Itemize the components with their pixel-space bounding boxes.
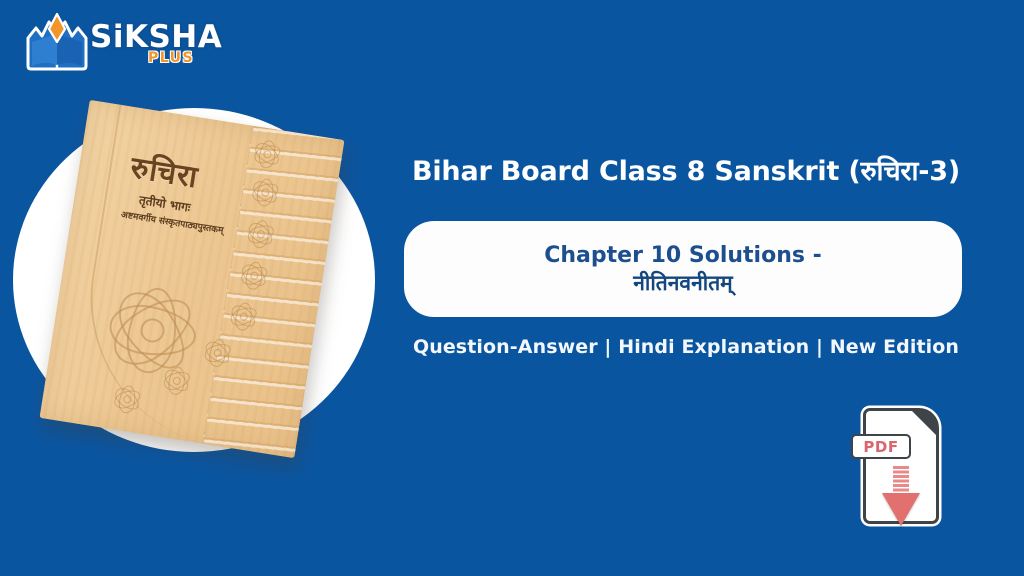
open-book-flame-icon (24, 12, 90, 74)
logo-brand-name: SiKSHA (90, 22, 222, 53)
logo-brand-suffix: PLUS (148, 51, 194, 65)
page-title: Bihar Board Class 8 Sanskrit (रुचिरा-3) (378, 156, 994, 187)
chapter-card-line-1: Chapter 10 Solutions - (544, 242, 822, 270)
download-arrow-stem (893, 466, 909, 496)
pdf-label: PDF (851, 434, 911, 459)
logo-wordmark: SiKSHA PLUS (90, 22, 210, 72)
download-arrow-head (882, 493, 920, 526)
book-cover: रुचिरा तृतीयो भागः अष्टमवर्गीय संस्कृतपा… (39, 100, 344, 458)
book-cover-image: रुचिरा तृतीयो भागः अष्टमवर्गीय संस्कृतपा… (39, 100, 344, 458)
promo-banner: SiKSHA PLUS रुचिरा तृतीयो भागः अष्टमवर्ग… (0, 0, 1024, 576)
pdf-download-icon[interactable]: PDF (855, 404, 947, 532)
tagline: Question-Answer | Hindi Explanation | Ne… (378, 336, 994, 358)
chapter-card: Chapter 10 Solutions - नीतिनवनीतम् (404, 221, 962, 317)
download-arrow-icon (882, 466, 920, 528)
site-logo[interactable]: SiKSHA PLUS (22, 10, 212, 78)
chapter-card-line-2: नीतिनवनीतम् (633, 270, 732, 296)
pdf-folded-corner-icon (911, 410, 937, 436)
